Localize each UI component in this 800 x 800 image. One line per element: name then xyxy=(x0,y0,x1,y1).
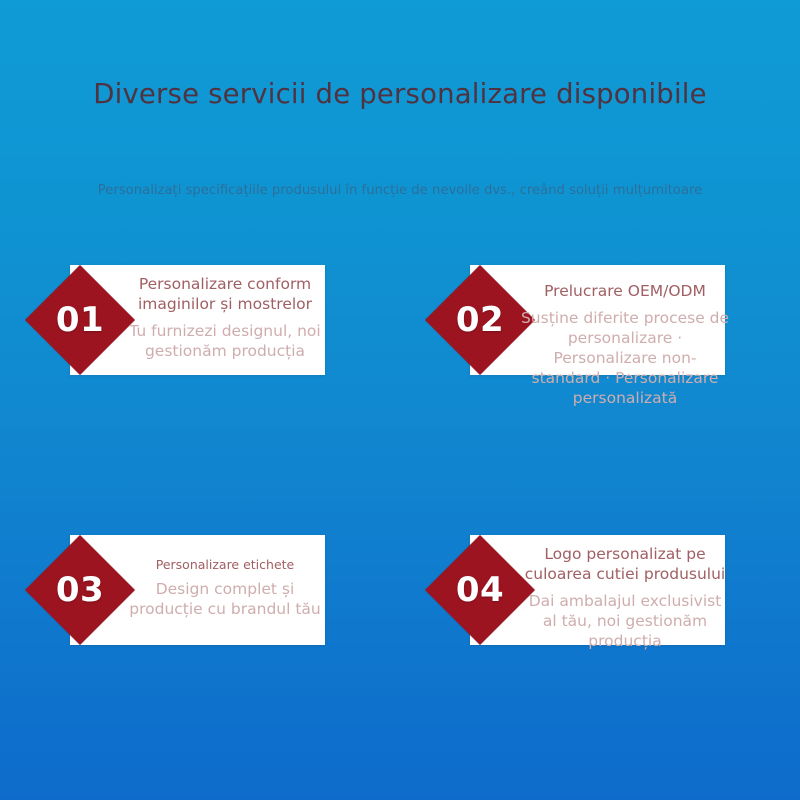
page-title: Diverse servicii de personalizare dispon… xyxy=(0,78,800,110)
card-number: 04 xyxy=(425,535,535,645)
service-card-02[interactable]: 02 Prelucrare OEM/ODM Susține diferite p… xyxy=(425,265,725,375)
card-number: 03 xyxy=(25,535,135,645)
service-card-04[interactable]: 04 Logo personalizat pe culoarea cutiei … xyxy=(425,535,725,645)
promo-banner: Diverse servicii de personalizare dispon… xyxy=(0,0,800,800)
page-subtitle: Personalizați specificațiile produsului … xyxy=(0,183,800,198)
card-number: 02 xyxy=(425,265,535,375)
service-card-01[interactable]: 01 Personalizare conform imaginilor și m… xyxy=(25,265,325,375)
card-number: 01 xyxy=(25,265,135,375)
service-card-03[interactable]: 03 Personalizare etichete Design complet… xyxy=(25,535,325,645)
